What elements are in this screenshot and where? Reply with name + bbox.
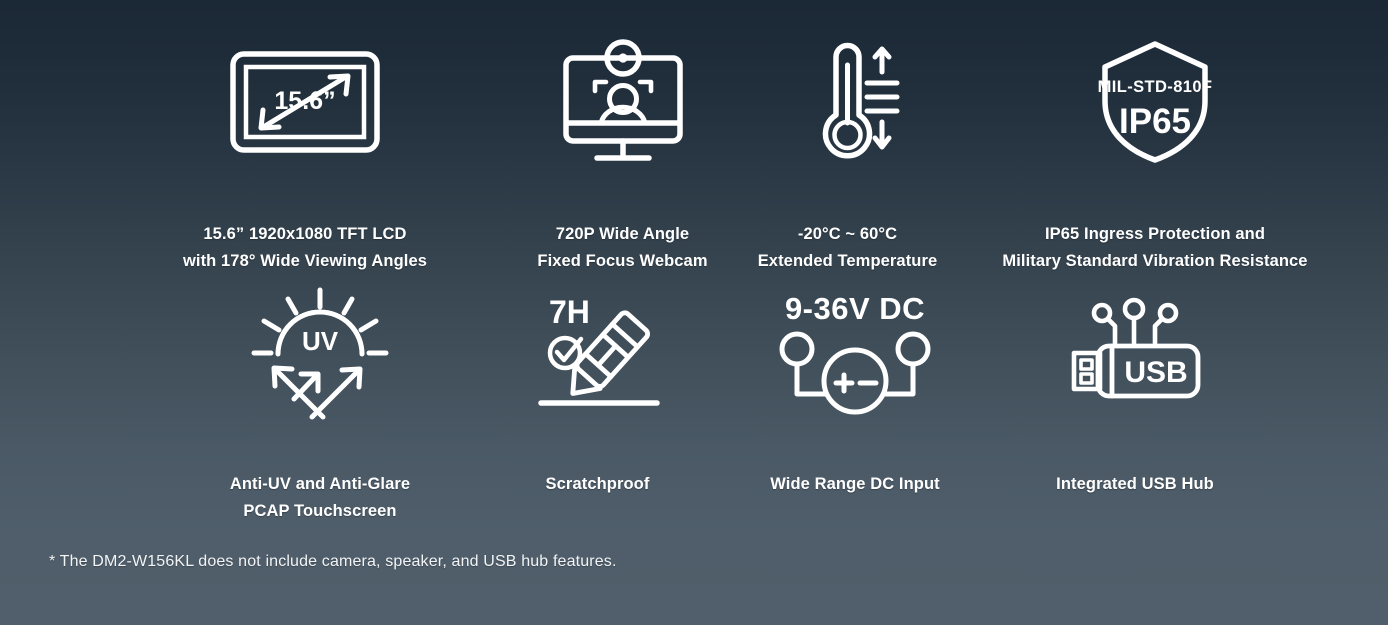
caption-line-1: 15.6” 1920x1080 TFT LCD xyxy=(183,221,427,248)
feature-item-display: 15.6” 15.6” 1920x1080 TFT LCD with 178° … xyxy=(105,0,505,275)
sun-uv-icon-label: UV xyxy=(302,326,339,356)
feature-item-temperature: -20°C ~ 60°C Extended Temperature xyxy=(740,0,955,275)
feature-item-dcinput: 9-36V DC Wide Range DC Inp xyxy=(725,264,985,525)
feature-item-antiuv: UV Anti-UV and Anti-Glare PCAP Touchscre… xyxy=(170,264,470,525)
feature-caption-dcinput: Wide Range DC Input xyxy=(770,471,940,498)
feature-caption-usbhub: Integrated USB Hub xyxy=(1056,471,1214,498)
shield-icon-rating-label: IP65 xyxy=(1119,102,1191,141)
caption-line-2: PCAP Touchscreen xyxy=(230,498,410,525)
webcam-monitor-icon xyxy=(561,27,685,177)
shield-icon: MIL-STD-810F IP65 xyxy=(1097,27,1213,177)
caption-line-1: Wide Range DC Input xyxy=(770,471,940,498)
caption-line-1: IP65 Ingress Protection and xyxy=(1002,221,1307,248)
caption-line-1: Integrated USB Hub xyxy=(1056,471,1214,498)
caption-line-1: Scratchproof xyxy=(546,471,650,498)
feature-item-usbhub: USB Integrated USB Hub xyxy=(985,264,1285,525)
caption-line-1: Anti-UV and Anti-Glare xyxy=(230,471,410,498)
feature-item-scratchproof: 7H xyxy=(470,264,725,525)
caption-line-1: 720P Wide Angle xyxy=(537,221,707,248)
feature-row-2: UV Anti-UV and Anti-Glare PCAP Touchscre… xyxy=(0,264,1388,525)
usb-hub-icon-label: USB xyxy=(1124,356,1187,389)
shield-icon-standard-label: MIL-STD-810F xyxy=(1098,78,1213,96)
caption-line-1: -20°C ~ 60°C xyxy=(758,221,938,248)
sun-uv-icon: UV xyxy=(250,284,390,424)
pencil-hardness-icon: 7H xyxy=(531,284,665,424)
feature-item-webcam: 720P Wide Angle Fixed Focus Webcam xyxy=(505,0,740,275)
pencil-hardness-icon-label: 7H xyxy=(549,294,590,330)
feature-caption-scratchproof: Scratchproof xyxy=(546,471,650,498)
dc-power-icon: 9-36V DC xyxy=(773,284,937,424)
display-size-icon: 15.6” xyxy=(229,27,381,177)
feature-caption-antiuv: Anti-UV and Anti-Glare PCAP Touchscreen xyxy=(230,471,410,525)
thermometer-icon xyxy=(795,27,901,177)
usb-hub-icon: USB xyxy=(1068,284,1202,424)
dc-power-icon-label: 9-36V DC xyxy=(785,291,925,326)
feature-item-ingress: MIL-STD-810F IP65 IP65 Ingress Protectio… xyxy=(955,0,1355,275)
feature-highlights-panel: 15.6” 15.6” 1920x1080 TFT LCD with 178° … xyxy=(0,0,1388,625)
feature-row-1: 15.6” 15.6” 1920x1080 TFT LCD with 178° … xyxy=(0,0,1388,275)
footnote: * The DM2-W156KL does not include camera… xyxy=(49,553,617,571)
display-size-icon-label: 15.6” xyxy=(274,87,335,115)
